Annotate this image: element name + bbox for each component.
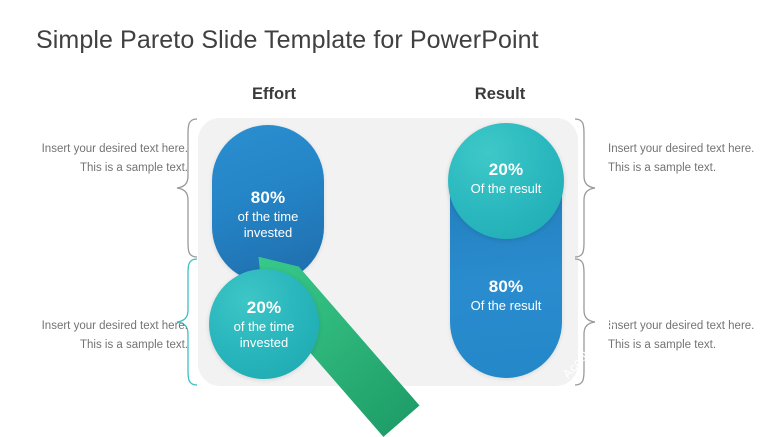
callout-bottom-right[interactable]: Insert your desired text here. This is a… [608,317,758,354]
page-title: Simple Pareto Slide Template for PowerPo… [36,26,539,55]
column-heading-result: Result [440,85,560,104]
effort-20-text-group: 20% of the time invested [209,297,319,352]
callout-top-left[interactable]: Insert your desired text here. This is a… [38,140,188,177]
result-80-percent: 80% [450,276,562,298]
column-heading-effort: Effort [214,85,334,104]
slide-canvas: Simple Pareto Slide Template for PowerPo… [0,0,768,432]
effort-20-caption-line1: of the time [209,319,319,336]
brace-top-right-icon [574,118,596,263]
result-20-percent: 20% [448,159,564,181]
effort-80-caption-line1: of the time [212,209,324,226]
effort-20-percent: 20% [209,297,319,319]
effort-80-text-group: 80% of the time invested [212,187,324,242]
result-20-caption-line1: Of the result [448,181,564,198]
effort-20-circle[interactable]: 20% of the time invested [209,269,319,379]
pareto-diagram: Accounts for 80% of the time invested 20… [198,118,578,386]
effort-20-caption-line2: invested [209,335,319,352]
result-20-text-group: 20% Of the result [448,159,564,198]
effort-80-percent: 80% [212,187,324,209]
callout-top-right[interactable]: Insert your desired text here. This is a… [608,140,758,177]
result-80-text-group: 80% Of the result [450,276,562,315]
effort-80-caption-line2: invested [212,225,324,242]
result-20-circle[interactable]: 20% Of the result [448,123,564,239]
callout-bottom-left[interactable]: Insert your desired text here. This is a… [38,317,188,354]
result-80-caption-line1: Of the result [450,298,562,315]
